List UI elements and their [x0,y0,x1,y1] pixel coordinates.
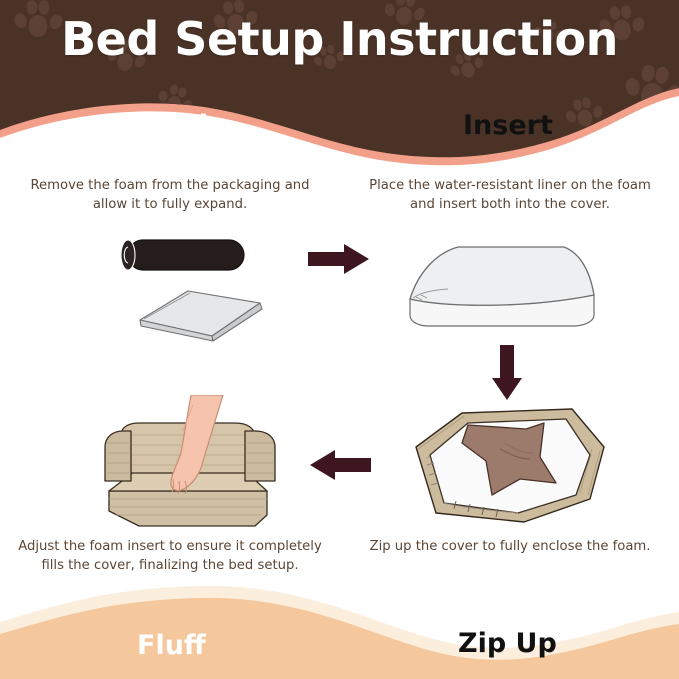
water-resistant-liner-icon [410,247,594,305]
step-label-zip-up: Zip Up [458,628,557,659]
step-label-unpack: Unpack [104,110,217,141]
footer-wave-cream [0,586,679,679]
infographic-root: Bed Setup Instruction Unpack Insert Remo… [0,0,679,679]
footer-wave-peach [0,598,679,679]
caption-zip-up: Zip up the cover to fully enclose the fo… [358,537,662,556]
rolled-foam-icon [121,240,244,270]
arrow-left-icon [309,448,371,482]
illustration-foam-with-liner [404,237,604,347]
arrow-right-icon [308,243,370,275]
caption-fluff: Adjust the foam insert to ensure it comp… [18,537,322,575]
page-title: Bed Setup Instruction [0,12,679,66]
step-label-fluff: Fluff [137,630,206,661]
folded-liner-icon [140,291,262,341]
footer-wave-band [0,566,679,679]
step-label-insert: Insert [463,110,553,141]
illustration-hand-fluffing-bed [95,395,325,535]
caption-unpack: Remove the foam from the packaging and a… [18,176,322,214]
caption-insert: Place the water-resistant liner on the f… [358,176,662,214]
illustration-rolled-foam-and-liner [110,235,290,345]
arrow-down-icon [491,345,523,401]
illustration-bed-being-zipped [404,403,614,528]
